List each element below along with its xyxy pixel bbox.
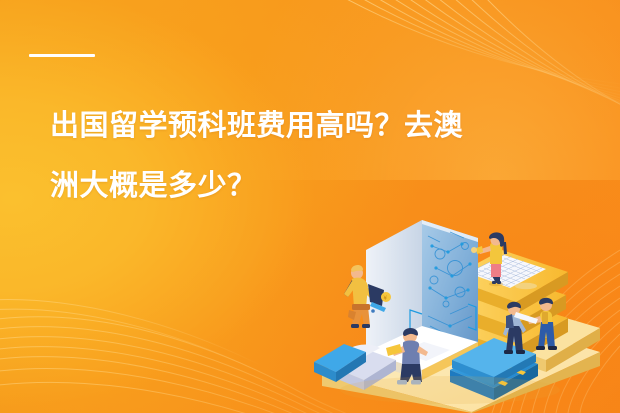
headline-line-1: 出国留学预科班费用高吗？去澳: [50, 96, 570, 156]
top-rule: [29, 54, 95, 57]
isometric-study-abroad-scene: ¥: [300, 176, 620, 413]
promo-banner: 出国留学预科班费用高吗？去澳 洲大概是多少？: [0, 0, 620, 413]
